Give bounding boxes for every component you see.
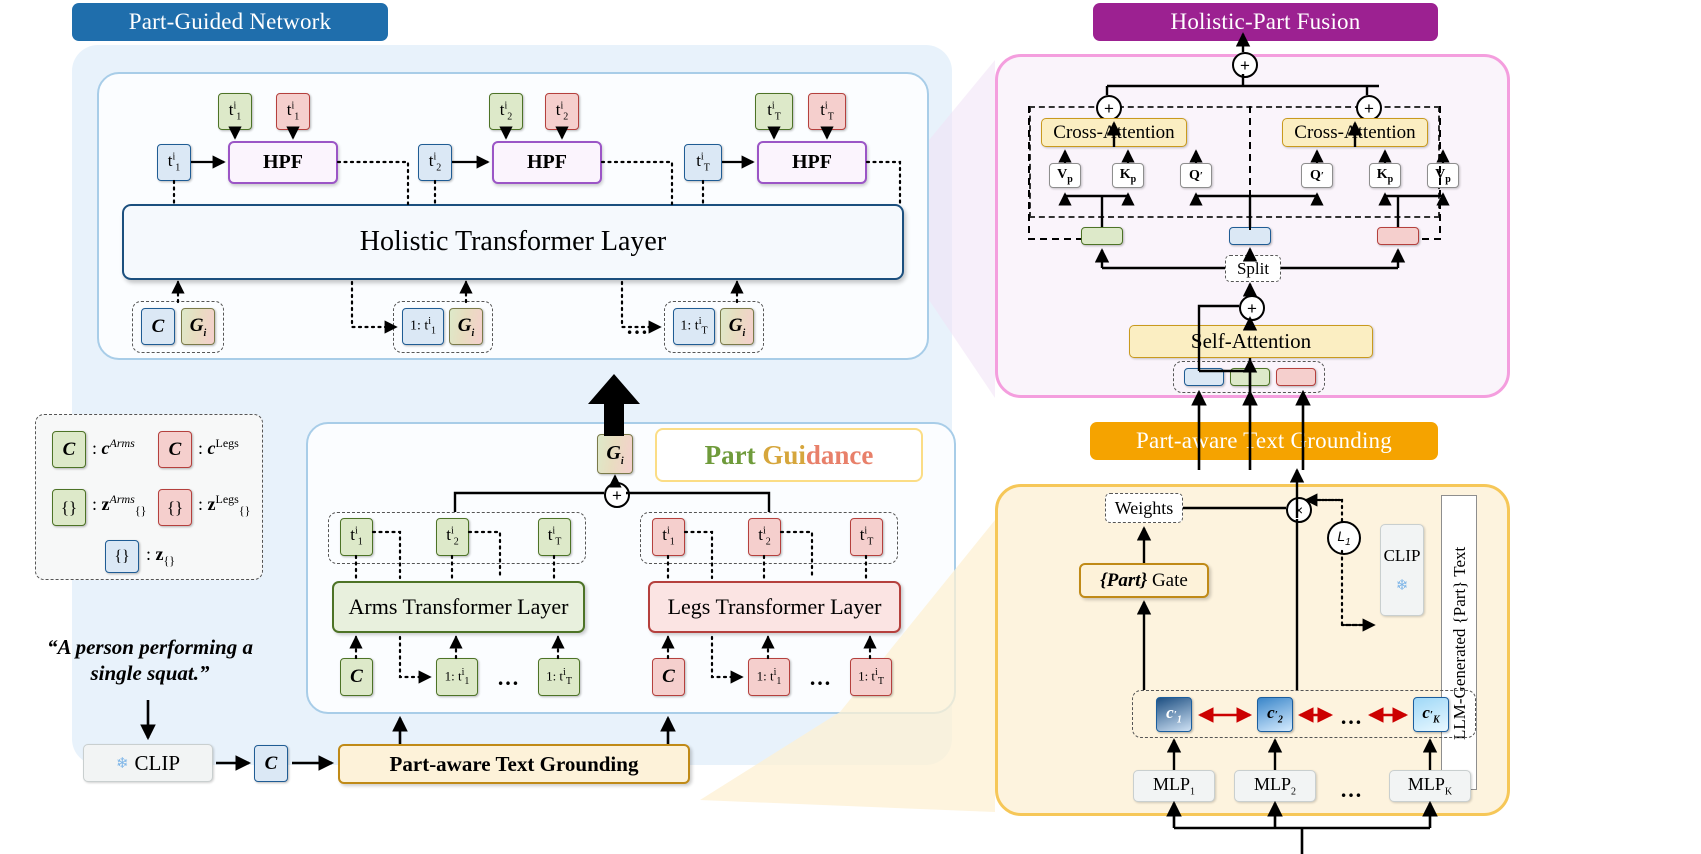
- ptg-mlp-1-label: MLP: [1153, 774, 1190, 794]
- hpf-kp-right: Kp: [1369, 163, 1401, 188]
- arms-input-tT-text: 1: t: [546, 668, 563, 683]
- arms-input-t1: 1: ti1: [436, 658, 478, 696]
- clip-encoder-right[interactable]: CLIP ❄: [1380, 524, 1424, 616]
- pgn-input-ellipsis: …: [626, 314, 650, 340]
- hpf-kp-right-text: K: [1377, 167, 1388, 182]
- ptg-c-token-1-text: c: [1166, 703, 1174, 722]
- arms-input-c-text: C: [350, 666, 363, 688]
- legs-input-tT-text: 1: t: [858, 668, 875, 683]
- arms-input-c: C: [340, 658, 373, 696]
- legs-input-tT: 1: tiT: [850, 658, 892, 696]
- legs-input-t1: 1: ti1: [748, 658, 790, 696]
- legs-input-t1-text: 1: t: [757, 668, 774, 683]
- pgn-input-t-2: 1: ti1: [402, 308, 444, 345]
- legs-token-1: ti1: [652, 518, 685, 556]
- legend-label-z: : z{}: [146, 544, 175, 569]
- ptg-c-token-2: c′2: [1257, 697, 1293, 732]
- legend-label-c-arms: : cArms: [92, 436, 135, 459]
- hpf-block-2[interactable]: HPF: [492, 141, 602, 184]
- part-guided-network-title: Part-Guided Network: [72, 3, 388, 41]
- ptg-c-token-k-text: c: [1422, 703, 1430, 722]
- part-guided-network-title-text: Part-Guided Network: [129, 9, 331, 35]
- legend-label-c-legs: : cLegs: [198, 436, 239, 459]
- hpf-vp-left: Vp: [1049, 163, 1081, 188]
- pgn-blue-token-1: ti1: [157, 144, 191, 181]
- holistic-part-fusion-title-text: Holistic-Part Fusion: [1171, 9, 1361, 35]
- legend-swatch-c-legs: C: [158, 431, 192, 468]
- hpf-strip-blue: [1229, 227, 1271, 245]
- legs-input-ellipsis: …: [809, 665, 833, 691]
- legend-swatch-z-arms: {}: [52, 489, 86, 526]
- hpf-split-label: Split: [1237, 259, 1269, 279]
- clip-encoder-right-label: CLIP: [1384, 546, 1421, 566]
- snowflake-icon-right: ❄: [1396, 576, 1409, 595]
- pgn-input-t-3: 1: tiT: [673, 308, 715, 345]
- ptg-part-gate-part: Part: [1107, 570, 1141, 591]
- input-prompt: “A person performing a single squat.”: [20, 634, 280, 687]
- ptg-c-token-1: c′1: [1156, 697, 1192, 732]
- hpf-input-blue: [1184, 368, 1224, 386]
- pgn-input-gi-1-text: G: [190, 315, 204, 336]
- arms-token-1: ti1: [340, 518, 373, 556]
- hpf-strip-red: [1377, 227, 1419, 245]
- ptg-part-gate-word: Gate: [1152, 570, 1188, 591]
- part-guidance-gi-output: Gi: [597, 434, 633, 474]
- pgn-blue-token-3: tiT: [684, 144, 722, 181]
- ptg-part-gate[interactable]: {Part} Gate: [1079, 563, 1209, 598]
- llm-generated-text-label: LLM-Generated {Part} Text: [1442, 496, 1478, 791]
- hpf-input-red: [1276, 368, 1316, 386]
- hpf-input-green: [1230, 368, 1270, 386]
- hpf-q-left: Q′: [1180, 163, 1212, 188]
- arms-token-3: tiT: [538, 518, 571, 556]
- arms-token-2: ti2: [436, 518, 469, 556]
- hpf-block-1-label: HPF: [263, 151, 303, 174]
- arms-input-ellipsis: …: [497, 665, 521, 691]
- arms-transformer-layer-label: Arms Transformer Layer: [349, 594, 569, 620]
- legend-swatch-c-arms: C: [52, 431, 86, 468]
- part-aware-text-grounding-button-label: Part-aware Text Grounding: [390, 752, 639, 777]
- hpf-q-right: Q′: [1301, 163, 1333, 188]
- hpf-q-left-text: Q: [1189, 168, 1200, 183]
- self-attention-block[interactable]: Self-Attention: [1129, 325, 1373, 358]
- hpf-kp-left: Kp: [1112, 163, 1144, 188]
- cross-attention-left-label: Cross-Attention: [1053, 122, 1174, 144]
- legend-swatch-z-legs: {}: [158, 489, 192, 526]
- pgn-input-gi-2-text: G: [458, 315, 472, 336]
- ptg-mlp-ellipsis: …: [1340, 777, 1364, 803]
- ptg-mlp-2[interactable]: MLP2: [1234, 770, 1316, 802]
- c-token-input: C: [254, 745, 288, 782]
- ptg-c-token-ellipsis: …: [1340, 704, 1364, 730]
- ptg-mlp-k-label: MLP: [1408, 774, 1445, 794]
- pgn-red-token-2: ti2: [545, 93, 579, 130]
- legs-input-c: C: [652, 658, 685, 696]
- hpf-q-right-text: Q: [1310, 168, 1321, 183]
- arms-input-tT: 1: tiT: [538, 658, 580, 696]
- c-token-input-text: C: [265, 753, 278, 775]
- hpf-block-1[interactable]: HPF: [228, 141, 338, 184]
- pgn-input-c-1-text: C: [152, 316, 165, 338]
- holistic-transformer-layer-label: Holistic Transformer Layer: [360, 226, 666, 258]
- pgn-green-token-1: ti1: [218, 93, 252, 130]
- ptg-mlp-2-label: MLP: [1254, 774, 1291, 794]
- ptg-mlp-k[interactable]: MLPK: [1389, 770, 1471, 802]
- legs-transformer-layer[interactable]: Legs Transformer Layer: [648, 581, 901, 633]
- pgn-input-gi-1: Gi: [181, 308, 215, 345]
- hpf-vp-left-text: V: [1057, 167, 1067, 182]
- ptg-mlp-1[interactable]: MLP1: [1133, 770, 1215, 802]
- ptg-loss-text: L: [1337, 528, 1345, 544]
- pgn-input-gi-3-text: G: [729, 315, 743, 336]
- legs-token-3: tiT: [850, 518, 883, 556]
- hpf-plus-top: +: [1232, 52, 1258, 78]
- ptg-c-token-k: c′K: [1413, 697, 1449, 732]
- legs-transformer-layer-label: Legs Transformer Layer: [668, 594, 882, 620]
- part-aware-text-grounding-title-text: Part-aware Text Grounding: [1136, 428, 1392, 454]
- ptg-c-token-2-text: c: [1267, 703, 1275, 722]
- ptg-multiply-operator: ×: [1286, 497, 1312, 523]
- hpf-split-node: Split: [1225, 255, 1281, 282]
- legend-swatch-z: {}: [105, 540, 139, 573]
- ptg-loss-node: L1: [1327, 521, 1361, 555]
- ptg-weights-label: Weights: [1115, 498, 1174, 519]
- legs-input-c-text: C: [662, 666, 675, 688]
- hpf-vp-right: Vp: [1427, 163, 1459, 188]
- hpf-vp-right-text: V: [1435, 167, 1445, 182]
- clip-encoder-left-label: CLIP: [135, 751, 181, 776]
- ptg-weights-node: Weights: [1105, 493, 1183, 523]
- llm-generated-text-label-box: LLM-Generated {Part} Text: [1441, 495, 1477, 790]
- hpf-kp-left-text: K: [1120, 167, 1131, 182]
- legend-label-z-arms: : zArms{}: [92, 492, 146, 519]
- pgn-red-token-3: tiT: [808, 93, 846, 130]
- legs-token-2: ti2: [748, 518, 781, 556]
- hpf-plus-mid: +: [1239, 295, 1265, 321]
- hpf-block-2-label: HPF: [527, 151, 567, 174]
- self-attention-label: Self-Attention: [1191, 329, 1311, 354]
- part-aware-text-grounding-panel: [995, 484, 1510, 816]
- holistic-transformer-layer[interactable]: Holistic Transformer Layer: [122, 204, 904, 280]
- cross-attention-right[interactable]: Cross-Attention: [1282, 118, 1428, 147]
- pgn-blue-token-2: ti2: [418, 144, 452, 181]
- snowflake-icon-left: ❄: [116, 754, 129, 773]
- pgn-input-t-2-text: 1: t: [410, 318, 428, 333]
- pgn-green-token-3: tiT: [755, 93, 793, 130]
- cross-attention-right-label: Cross-Attention: [1294, 122, 1415, 144]
- pgn-input-c-1: C: [141, 308, 175, 345]
- part-guidance-gi-text: G: [606, 442, 620, 464]
- part-aware-text-grounding-title: Part-aware Text Grounding: [1090, 422, 1438, 460]
- cross-attention-left[interactable]: Cross-Attention: [1041, 118, 1187, 147]
- holistic-part-fusion-title: Holistic-Part Fusion: [1093, 3, 1438, 41]
- pgn-input-t-3-text: 1: t: [680, 318, 698, 333]
- pgn-input-gi-3: Gi: [720, 308, 754, 345]
- clip-encoder-left[interactable]: ❄ CLIP: [83, 744, 213, 782]
- hpf-block-3[interactable]: HPF: [757, 141, 867, 184]
- part-guidance-plus-operator: +: [604, 482, 630, 508]
- pgn-input-gi-2: Gi: [449, 308, 483, 345]
- pgn-red-token-1: ti1: [276, 93, 310, 130]
- hpf-strip-green: [1081, 227, 1123, 245]
- arms-input-t1-text: 1: t: [445, 668, 462, 683]
- arms-transformer-layer[interactable]: Arms Transformer Layer: [332, 581, 585, 633]
- part-aware-text-grounding-button[interactable]: Part-aware Text Grounding: [338, 744, 690, 784]
- pgn-green-token-2: ti2: [489, 93, 523, 130]
- legend-label-z-legs: : zLegs{}: [198, 492, 250, 519]
- hpf-block-3-label: HPF: [792, 151, 832, 174]
